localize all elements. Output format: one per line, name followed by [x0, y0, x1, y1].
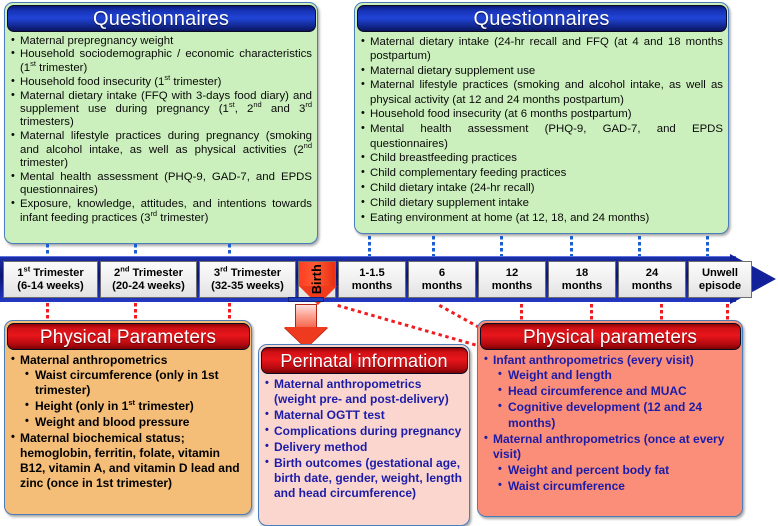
connector-blue-6	[500, 236, 503, 256]
connector-blue-9	[706, 236, 709, 256]
sub-list-item: Cognitive development (12 and 24 months)	[497, 400, 737, 431]
connector-blue-7	[570, 236, 573, 256]
sub-list-item: Weight and length	[497, 368, 737, 383]
timeline-cell-sublabel: (6-14 weeks)	[17, 280, 84, 293]
physical-parameters-right-body: Infant anthropometrics (every visit)Weig…	[478, 350, 742, 499]
sub-list-item: Weight and blood pressure	[24, 415, 246, 430]
list-item: Child dietary intake (24-hr recall)	[360, 181, 723, 195]
physical-parameters-left-list: Maternal anthropometricsWaist circumfere…	[10, 353, 246, 492]
list-item: Exposure, knowledge, attitudes, and inte…	[10, 198, 312, 225]
timeline-cell-label: 18	[576, 267, 588, 280]
connector-red-1	[46, 303, 49, 321]
timeline-cell-label: 1-1.5	[359, 267, 385, 280]
timeline-cell-8[interactable]: 24months	[618, 261, 686, 298]
sub-list-item: Height (only in 1st trimester)	[24, 399, 246, 414]
questionnaire-left-body: Maternal prepregnancy weightHousehold so…	[5, 32, 317, 230]
questionnaire-right-title: Questionnaires	[357, 5, 727, 32]
list-item: Complications during pregnancy	[264, 424, 464, 439]
list-item: Household food insecurity (1st trimester…	[10, 76, 312, 89]
timeline-cell-sublabel: months	[562, 280, 602, 293]
list-item: Maternal dietary supplement use	[360, 64, 723, 78]
timeline-cell-label: 2nd Trimester	[114, 267, 183, 280]
list-item: Mental health assessment (PHQ-9, GAD-7, …	[360, 122, 723, 151]
timeline-cell-label: 6	[439, 267, 445, 280]
connector-blue-8	[638, 236, 641, 256]
list-item: Household food insecurity (at 6 months p…	[360, 107, 723, 121]
connector-blue-5	[432, 236, 435, 256]
list-item: Birth outcomes (gestational age, birth d…	[264, 456, 464, 502]
timeline-cell-sublabel: months	[352, 280, 392, 293]
list-item: Maternal anthropometrics (once at every …	[483, 432, 737, 463]
timeline-cell-1[interactable]: 2nd Trimester(20-24 weeks)	[100, 261, 197, 298]
list-item: Maternal lifestyle practices (smoking an…	[360, 78, 723, 107]
physical-parameters-right-list: Infant anthropometrics (every visit)Weig…	[483, 353, 737, 495]
study-design-diagram: Questionnaires Maternal prepregnancy wei…	[0, 0, 778, 526]
timeline-cell-sublabel: months	[422, 280, 462, 293]
questionnaire-right-list: Maternal dietary intake (24-hr recall an…	[360, 35, 723, 225]
connector-red-5	[590, 304, 593, 320]
list-item: Maternal dietary intake (FFQ with 3-days…	[10, 90, 312, 130]
list-item: Child dietary supplement intake	[360, 196, 723, 210]
connector-red-4	[520, 304, 523, 320]
sub-list: Weight and percent body fatWaist circumf…	[497, 463, 737, 494]
timeline-cell-sublabel: (20-24 weeks)	[112, 280, 185, 293]
sub-list-item: Head circumference and MUAC	[497, 384, 737, 399]
timeline-cell-6[interactable]: 12months	[478, 261, 546, 298]
timeline-cell-label: 1st Trimester	[17, 267, 83, 280]
timeline-cell-label: 3rd Trimester	[214, 267, 281, 280]
connector-red-7	[726, 304, 729, 320]
timeline-cell-3[interactable]: Birth	[298, 261, 336, 298]
sub-list-item: Waist circumference	[497, 479, 737, 494]
sub-list: Weight and lengthHead circumference and …	[497, 368, 737, 431]
connector-red-diag-1	[337, 304, 480, 348]
birth-arrow-icon	[284, 300, 328, 348]
timeline-cell-7[interactable]: 18months	[548, 261, 616, 298]
connector-blue-1	[46, 244, 49, 256]
connector-red-2	[134, 303, 137, 321]
list-item: Delivery method	[264, 440, 464, 455]
questionnaire-left-list: Maternal prepregnancy weightHousehold so…	[10, 35, 312, 226]
questionnaire-right-panel: Questionnaires Maternal dietary intake (…	[354, 2, 729, 234]
list-item: Maternal OGTT test	[264, 408, 464, 423]
questionnaire-right-body: Maternal dietary intake (24-hr recall an…	[355, 32, 728, 230]
list-item: Maternal lifestyle practices during preg…	[10, 130, 312, 170]
timeline-cell-0[interactable]: 1st Trimester(6-14 weeks)	[3, 261, 98, 298]
perinatal-information-panel: Perinatal information Maternal anthropom…	[258, 344, 470, 526]
connector-red-6	[660, 304, 663, 320]
physical-parameters-right-title: Physical parameters	[480, 323, 741, 350]
study-timeline: 1st Trimester(6-14 weeks)2nd Trimester(2…	[0, 256, 778, 302]
list-item: Child complementary feeding practices	[360, 166, 723, 180]
perinatal-information-body: Maternal anthropometrics (weight pre- an…	[259, 374, 469, 507]
perinatal-information-title: Perinatal information	[261, 347, 468, 374]
timeline-cell-label: 12	[506, 267, 518, 280]
list-item: Maternal anthropometrics	[10, 353, 246, 368]
physical-parameters-left-panel: Physical Parameters Maternal anthropomet…	[4, 320, 252, 515]
connector-red-3	[228, 303, 231, 321]
timeline-cell-sublabel: (32-35 weeks)	[211, 280, 284, 293]
timeline-cell-sublabel: months	[632, 280, 672, 293]
list-item: Maternal dietary intake (24-hr recall an…	[360, 35, 723, 64]
list-item: Household sociodemographic / economic ch…	[10, 48, 312, 75]
sub-list-item: Waist circumference (only in 1st trimest…	[24, 368, 246, 398]
physical-parameters-left-title: Physical Parameters	[7, 323, 250, 350]
timeline-cell-sublabel: episode	[699, 280, 741, 293]
timeline-cell-9[interactable]: Unwellepisode	[688, 261, 752, 298]
list-item: Maternal biochemical status; hemoglobin,…	[10, 431, 246, 492]
list-item: Child breastfeeding practices	[360, 151, 723, 165]
timeline-cell-4[interactable]: 1-1.5months	[338, 261, 406, 298]
list-item: Maternal anthropometrics (weight pre- an…	[264, 377, 464, 408]
questionnaire-left-panel: Questionnaires Maternal prepregnancy wei…	[4, 2, 318, 244]
physical-parameters-left-body: Maternal anthropometricsWaist circumfere…	[5, 350, 251, 496]
timeline-cell-5[interactable]: 6months	[408, 261, 476, 298]
timeline-cell-label: Birth	[311, 264, 324, 294]
list-item: Eating environment at home (at 12, 18, a…	[360, 211, 723, 225]
list-item: Maternal prepregnancy weight	[10, 35, 312, 48]
questionnaire-left-title: Questionnaires	[7, 5, 316, 32]
connector-blue-4	[368, 236, 371, 256]
perinatal-information-list: Maternal anthropometrics (weight pre- an…	[264, 377, 464, 502]
list-item: Infant anthropometrics (every visit)	[483, 353, 737, 368]
list-item: Mental health assessment (PHQ-9, GAD-7, …	[10, 171, 312, 198]
physical-parameters-right-panel: Physical parameters Infant anthropometri…	[477, 320, 743, 517]
timeline-cell-sublabel: months	[492, 280, 532, 293]
timeline-cell-2[interactable]: 3rd Trimester(32-35 weeks)	[199, 261, 296, 298]
timeline-cells: 1st Trimester(6-14 weeks)2nd Trimester(2…	[3, 261, 752, 298]
timeline-cell-label: Unwell	[702, 267, 738, 280]
sub-list-item: Weight and percent body fat	[497, 463, 737, 478]
sub-list: Waist circumference (only in 1st trimest…	[24, 368, 246, 430]
connector-blue-3	[228, 244, 231, 256]
connector-blue-2	[134, 244, 137, 256]
timeline-cell-label: 24	[646, 267, 658, 280]
